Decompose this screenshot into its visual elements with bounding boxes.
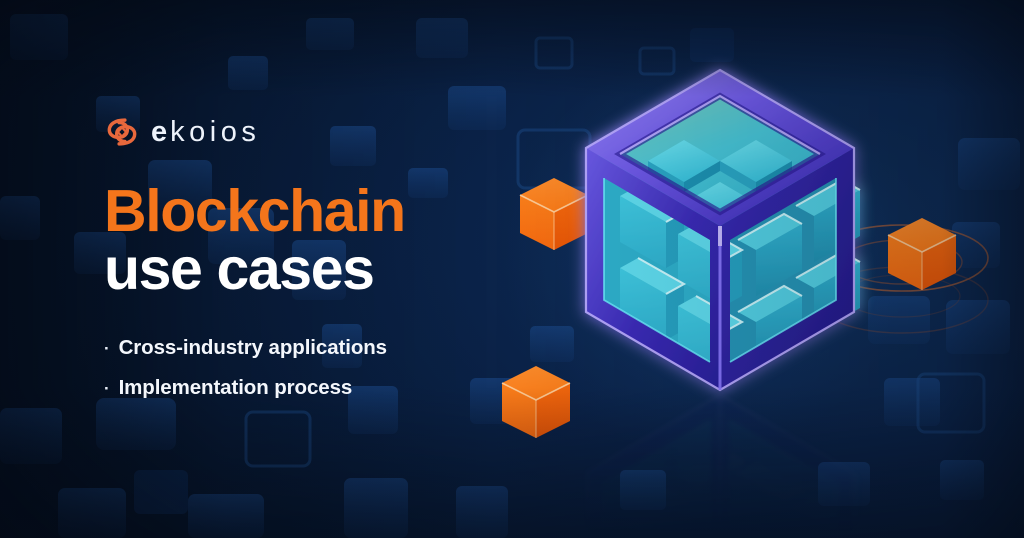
brand-wordmark: ekoios <box>151 118 260 147</box>
bullet-list: · Cross-industry applications · Implemen… <box>104 338 524 398</box>
page-title: Blockchain use cases <box>104 182 524 299</box>
text-column: ekoios Blockchain use cases · Cross-indu… <box>104 112 524 417</box>
headline-line-2: use cases <box>104 240 524 298</box>
banner-canvas: ekoios Blockchain use cases · Cross-indu… <box>0 0 1024 538</box>
brand-lockup[interactable]: ekoios <box>104 112 524 152</box>
headline-line-1: Blockchain <box>104 182 524 240</box>
orange-cube-left-upper <box>520 178 588 250</box>
ekoios-chainlink-logo-icon <box>104 114 140 150</box>
bullet-label: Implementation process <box>119 378 353 399</box>
brand-name-lead: e <box>151 116 170 148</box>
brand-name-rest: koios <box>170 116 260 148</box>
list-item: · Implementation process <box>104 378 524 399</box>
main-blockchain-cube <box>586 70 860 390</box>
blockchain-illustration <box>470 0 1024 538</box>
bullet-marker-icon: · <box>104 340 110 357</box>
bullet-marker-icon: · <box>104 380 110 397</box>
bullet-label: Cross-industry applications <box>119 338 387 359</box>
list-item: · Cross-industry applications <box>104 338 524 359</box>
